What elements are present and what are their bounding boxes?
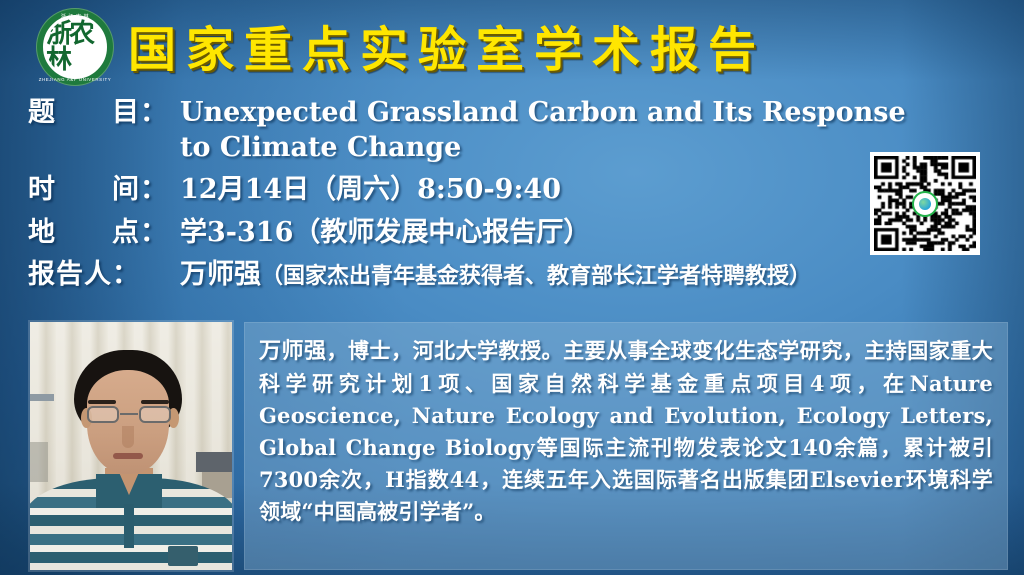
- speaker-name: 万师强: [180, 259, 261, 290]
- speaker-bio-panel: 万师强，博士，河北大学教授。主要从事全球变化生态学研究，主持国家重大科学研究计划…: [244, 322, 1008, 570]
- detail-row-speaker: 报告人： 万师强（国家杰出青年基金获得者、教育部长江学者特聘教授）: [28, 252, 1008, 293]
- poster-header: 浙农林 浙 江 农 林 ZHEJIANG A&F UNIVERSITY 国家重点…: [0, 0, 1024, 88]
- logo-glyph: 浙农林: [46, 21, 104, 73]
- title-value: Unexpected Grassland Carbon and Its Resp…: [180, 96, 970, 165]
- photo-pocket: [168, 546, 198, 566]
- detail-row-title: 题 目： Unexpected Grassland Carbon and Its…: [28, 90, 1008, 165]
- photo-placket: [124, 504, 134, 548]
- logo-arc-bottom-text: ZHEJIANG A&F UNIVERSITY: [36, 77, 114, 82]
- detail-row-time: 时 间： 12月14日（周六）8:50-9:40: [28, 167, 1008, 208]
- photo-shelf-secondary: [30, 442, 48, 482]
- photo-eyebrow-left: [88, 400, 116, 404]
- speaker-label: 报告人：: [28, 252, 180, 291]
- time-label: 时 间：: [28, 167, 180, 206]
- university-logo-icon: 浙农林 浙 江 农 林 ZHEJIANG A&F UNIVERSITY: [36, 8, 114, 86]
- page-title: 国家重点实验室学术报告: [128, 10, 766, 80]
- photo-books: [196, 452, 232, 472]
- qr-center-logo-icon: [912, 191, 938, 217]
- speaker-affiliation: （国家杰出青年基金获得者、教育部长江学者特聘教授）: [261, 263, 811, 289]
- speaker-value: 万师强（国家杰出青年基金获得者、教育部长江学者特聘教授）: [180, 258, 1008, 293]
- event-details: 题 目： Unexpected Grassland Carbon and Its…: [28, 90, 1008, 295]
- photo-nose: [122, 426, 134, 448]
- photo-eyebrow-right: [141, 400, 169, 404]
- qr-code[interactable]: [870, 152, 980, 255]
- bio-text: ，博士，河北大学教授。主要从事全球变化生态学研究，主持国家重大科学研究计划1项、…: [259, 338, 993, 524]
- title-line-1: Unexpected Grassland Carbon and Its Resp…: [180, 97, 906, 128]
- title-line-2: to Climate Change: [180, 131, 970, 166]
- photo-glasses-icon: [84, 406, 174, 424]
- logo-arc-top-text: 浙 江 农 林: [36, 13, 114, 20]
- title-label: 题 目：: [28, 90, 180, 129]
- bio-paragraph: 万师强，博士，河北大学教授。主要从事全球变化生态学研究，主持国家重大科学研究计划…: [259, 335, 993, 528]
- bio-speaker-name: 万师强: [259, 338, 327, 364]
- seminar-poster: 浙农林 浙 江 农 林 ZHEJIANG A&F UNIVERSITY 国家重点…: [0, 0, 1024, 575]
- speaker-photo: [30, 322, 232, 570]
- place-label: 地 点：: [28, 210, 180, 249]
- detail-row-place: 地 点： 学3-316（教师发展中心报告厅）: [28, 210, 1008, 251]
- photo-mouth: [113, 453, 143, 459]
- photo-shelf: [30, 394, 54, 401]
